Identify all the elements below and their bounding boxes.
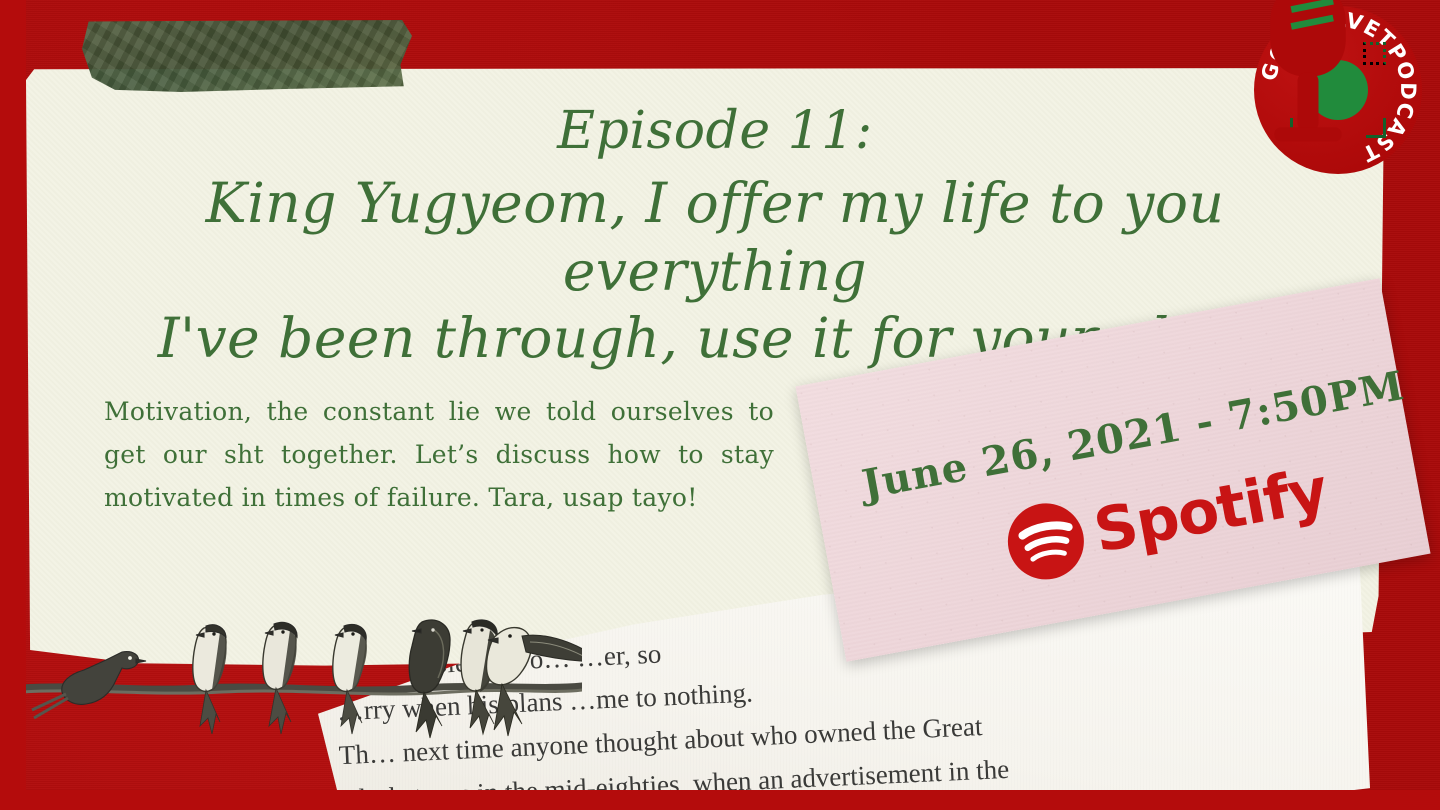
spotify-wordmark: Spotify [1090, 460, 1332, 562]
episode-description: Motivation, the constant lie we told our… [104, 390, 774, 519]
left-red-border [0, 0, 26, 810]
swallows-on-branch-illustration [22, 600, 582, 800]
spotify-mark-icon [999, 495, 1092, 588]
bottom-red-border [0, 790, 1440, 810]
episode-title-line-2: King Yugyeom, I offer my life to you eve… [110, 170, 1320, 305]
poster-canvas: so the rum… d the people west o… …er, so… [0, 0, 1440, 810]
washi-tape-decoration [82, 20, 412, 92]
episode-number-line: Episode 11: [110, 100, 1320, 164]
